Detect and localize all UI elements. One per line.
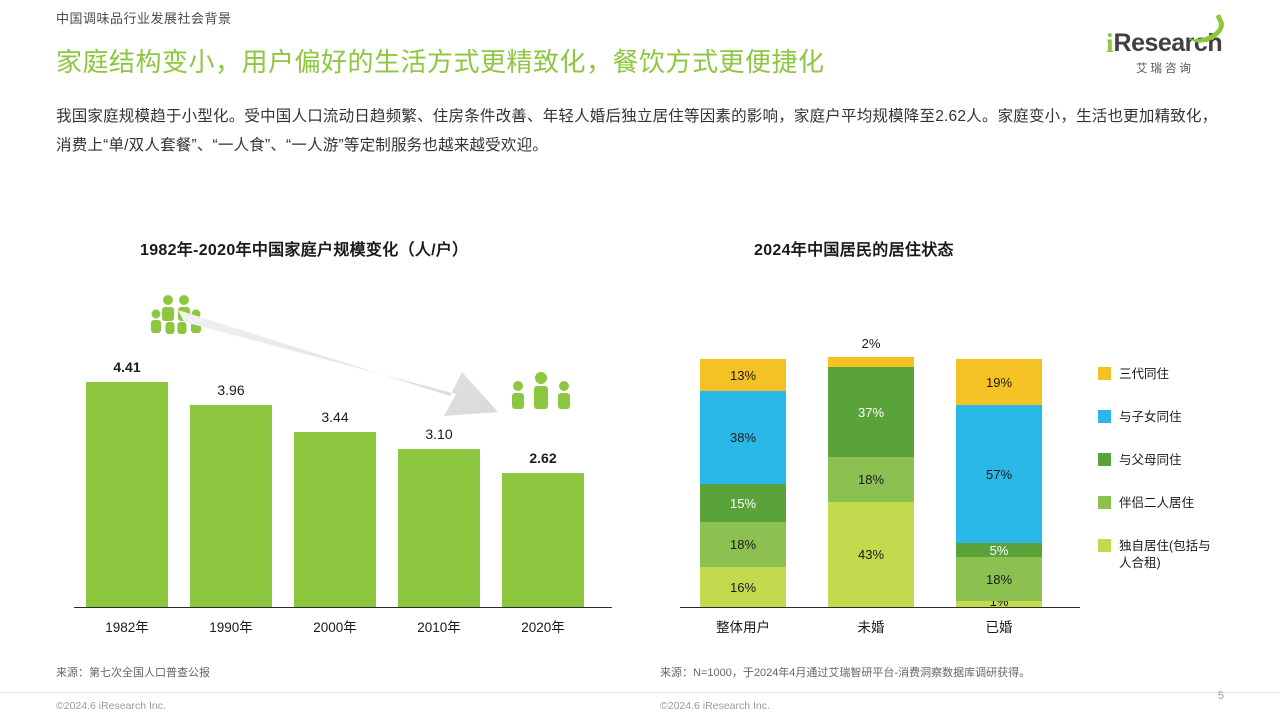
bar-value-1982: 4.41 [86,359,168,375]
legend-label: 与子女同住 [1119,409,1182,426]
iresearch-logo: iResearch 艾瑞咨询 [1106,28,1224,80]
seg-label: 16% [730,580,756,595]
rx-label-overall: 整体用户 [688,616,798,636]
seg-label: 19% [986,375,1012,390]
right-chart-source: 来源：N=1000，于2024年4月通过艾瑞智研平台-消费洞察数据库调研获得。 [660,664,1030,680]
logo-wordmark: iResearch [1106,28,1224,58]
legend-swatch-icon [1098,539,1111,552]
seg-married-parents: 5% [956,543,1042,557]
seg-married-children: 57% [956,405,1042,543]
bar-value-2010: 3.10 [398,426,480,442]
seg-label: 57% [986,467,1012,482]
seg-unmarried-couple: 18% [828,457,914,502]
seg-label: 5% [990,543,1009,558]
seg-married-couple: 18% [956,557,1042,601]
x-label-1990: 1990年 [190,616,272,636]
left-bars-area: 4.41 3.96 3.44 3.10 2.62 [74,327,612,607]
x-label-2020: 2020年 [502,616,584,636]
left-chart-source: 来源：第七次全国人口普查公报 [56,664,210,680]
seg-unmarried-threegen [828,357,914,367]
legend-label: 与父母同住 [1119,452,1182,469]
seg-unmarried-parents: 37% [828,367,914,457]
seg-overall-threegen: 13% [700,359,786,391]
seg-overall-parents: 15% [700,484,786,522]
logo-chinese-text: 艾瑞咨询 [1106,60,1224,76]
rx-label-married: 已婚 [944,616,1054,636]
legend-swatch-icon [1098,367,1111,380]
seg-label: 15% [730,496,756,511]
legend-item-threegen: 三代同住 [1098,366,1223,383]
legend-label: 伴侣二人居住 [1119,495,1194,512]
right-chart-title: 2024年中国居民的居住状态 [754,236,954,260]
page-number: 5 [1218,690,1224,702]
right-chart-legend: 三代同住 与子女同住 与父母同住 伴侣二人居住 独自居住(包括与人合租) [1098,366,1223,598]
page-subtitle: 我国家庭规模趋于小型化。受中国人口流动日趋频繁、住房条件改善、年轻人婚后独立居住… [56,102,1228,160]
bar-value-2000: 3.44 [294,409,376,425]
seg-overall-couple: 18% [700,522,786,567]
footer-copyright-left: ©2024.6 iResearch Inc. [56,700,166,712]
seg-label: 37% [858,405,884,420]
x-label-2000: 2000年 [294,616,376,636]
logo-i-letter: i [1106,28,1114,58]
left-chart-title: 1982年-2020年中国家庭户规模变化（人/户） [140,236,468,260]
seg-married-threegen: 19% [956,359,1042,405]
seg-label: 13% [730,368,756,383]
footer-divider [0,692,1280,693]
x-label-2010: 2010年 [398,616,480,636]
slide-kicker: 中国调味品行业发展社会背景 [56,8,232,27]
bar-value-1990: 3.96 [190,382,272,398]
seg-overall-children: 38% [700,391,786,484]
legend-label: 三代同住 [1119,366,1169,383]
seg-label-unmarried-threegen: 2% [828,336,914,351]
seg-overall-alone: 16% [700,567,786,607]
stack-column-unmarried: 43% 18% 37% 2% [828,357,914,607]
legend-item-couple: 伴侣二人居住 [1098,495,1223,512]
living-status-stacked-chart: 16% 18% 15% 38% 13% 43% 18% 37% 2% 1% 18… [660,280,1220,650]
seg-label: 18% [858,472,884,487]
seg-label: 38% [730,430,756,445]
stack-column-overall: 16% 18% 15% 38% 13% [700,359,786,607]
left-x-axis [74,607,612,608]
bar-value-2020: 2.62 [502,450,584,466]
seg-label: 18% [730,537,756,552]
family-size-bar-chart: 4.41 3.96 3.44 3.10 2.62 1982年 1990年 200… [56,280,616,650]
page-title: 家庭结构变小，用户偏好的生活方式更精致化，餐饮方式更便捷化 [56,42,825,79]
legend-item-parents: 与父母同住 [1098,452,1223,469]
legend-swatch-icon [1098,410,1111,423]
legend-item-children: 与子女同住 [1098,409,1223,426]
footer-copyright-right: ©2024.6 iResearch Inc. [660,700,770,712]
x-label-1982: 1982年 [86,616,168,636]
legend-label: 独自居住(包括与人合租) [1119,538,1223,572]
seg-label: 43% [858,547,884,562]
legend-swatch-icon [1098,496,1111,509]
legend-swatch-icon [1098,453,1111,466]
slide-page: 中国调味品行业发展社会背景 家庭结构变小，用户偏好的生活方式更精致化，餐饮方式更… [0,0,1280,720]
legend-item-alone: 独自居住(包括与人合租) [1098,538,1223,572]
rx-label-unmarried: 未婚 [816,616,926,636]
stack-column-married: 1% 18% 5% 57% 19% [956,359,1042,607]
seg-unmarried-alone: 43% [828,502,914,607]
seg-label: 18% [986,572,1012,587]
